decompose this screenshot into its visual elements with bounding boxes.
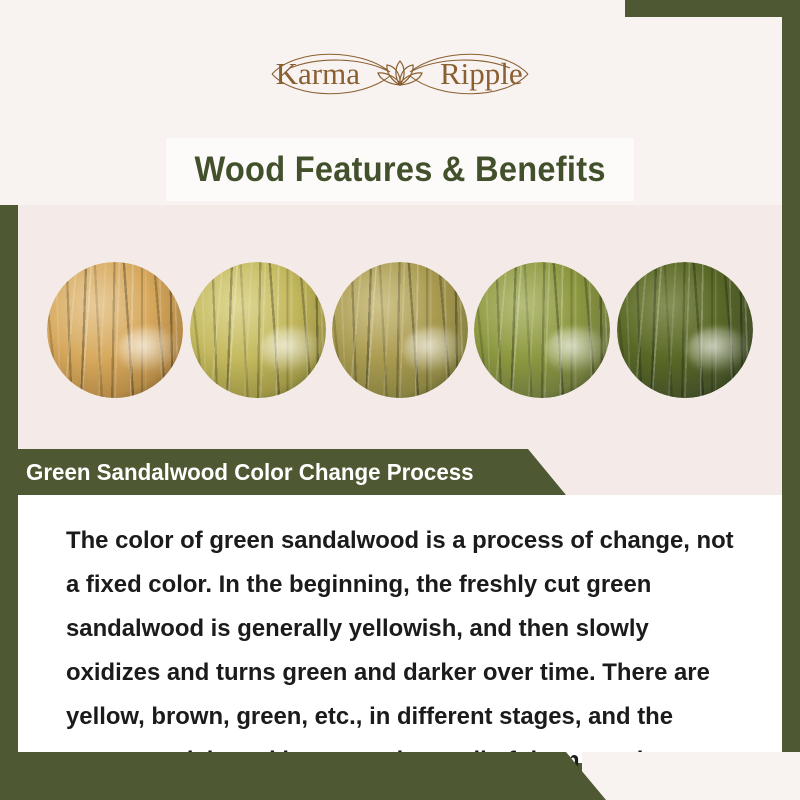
bead-highlight (545, 327, 608, 373)
title-banner: Wood Features & Benefits (166, 138, 634, 201)
brand-logo: Karma Ripple (0, 38, 800, 112)
section-caption-ribbon: Green Sandalwood Color Change Process (0, 449, 566, 495)
frame-top-green-band (625, 0, 800, 17)
frame-bottom-cream-corner (582, 752, 800, 800)
bead-stage-4 (474, 262, 610, 398)
description-card: The color of green sandalwood is a proce… (18, 495, 782, 763)
bead-stage-2 (190, 262, 326, 398)
frame-right-green-band (782, 0, 800, 800)
logo-word-left: Karma (276, 56, 361, 91)
bead-highlight (687, 327, 750, 373)
poster-canvas: Karma Ripple Wood Features & Benefits (0, 0, 800, 800)
bead-gallery (18, 255, 782, 405)
bead-highlight (260, 327, 323, 373)
bead-highlight (403, 327, 466, 373)
bead-stage-5 (617, 262, 753, 398)
frame-bottom-green-band (0, 752, 606, 800)
bead-highlight (118, 327, 181, 373)
karma-ripple-logo-svg: Karma Ripple (250, 38, 550, 112)
bead-stage-3 (332, 262, 468, 398)
bead-stage-1 (47, 262, 183, 398)
section-caption: Green Sandalwood Color Change Process (26, 459, 474, 486)
lotus-icon (378, 61, 422, 85)
logo-word-right: Ripple (440, 56, 523, 91)
page-title: Wood Features & Benefits (194, 150, 605, 190)
